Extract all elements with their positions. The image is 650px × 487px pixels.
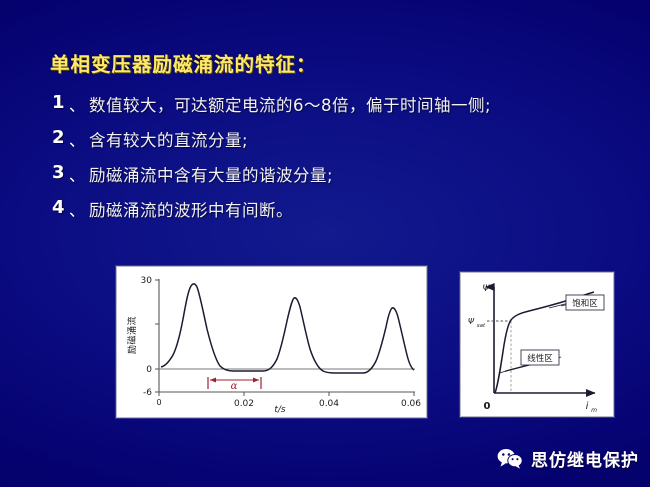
bullet-separator: 、 — [69, 197, 85, 221]
x-axis-label: i — [586, 401, 589, 412]
wechat-icon — [497, 448, 523, 469]
bullet-number: 4 — [52, 197, 68, 218]
y-tick-label-zero: 0 — [146, 365, 152, 375]
x-axis-label: t/s — [274, 405, 286, 415]
psi-sat-label: Ψ — [468, 317, 475, 326]
x-tick-label-2: 0.04 — [319, 399, 339, 409]
bullet-text: 含有较大的直流分量; — [89, 127, 248, 151]
inrush-curve — [161, 284, 414, 373]
waveform-svg: 30 0 -6 励磁涌流 0 0.02 0.04 0.06 t/s — [117, 267, 426, 417]
bullet-separator: 、 — [69, 162, 85, 186]
y-tick-label-max: 30 — [141, 276, 153, 286]
bullet-number: 3 — [52, 162, 68, 183]
linear-region-label: 线性区 — [527, 353, 553, 364]
slide-canvas: 单相变压器励磁涌流的特征： 1 、 数值较大，可达额定电流的6～8倍，偏于时间轴… — [0, 0, 650, 487]
alpha-label: α — [231, 381, 238, 392]
watermark: 思仿继电保护 — [497, 446, 639, 471]
bullet-text: 数值较大，可达额定电流的6～8倍，偏于时间轴一侧; — [89, 92, 491, 116]
alpha-annotation: α — [208, 377, 261, 392]
bullet-separator: 、 — [69, 127, 85, 151]
bullet-separator: 、 — [69, 92, 85, 116]
alpha-arrow-right — [253, 378, 259, 383]
bullet-number: 1 — [52, 92, 68, 113]
saturation-region-label: 饱和区 — [572, 298, 598, 309]
x-tick-label-0: 0 — [156, 398, 161, 407]
bullet-text: 励磁涌流的波形中有间断。 — [89, 197, 293, 221]
list-item: 2 、 含有较大的直流分量; — [52, 127, 612, 151]
list-item: 1 、 数值较大，可达额定电流的6～8倍，偏于时间轴一侧; — [52, 92, 612, 116]
y-axis-label: Ψ — [482, 284, 490, 294]
linear-region-callout: 线性区 — [505, 350, 559, 371]
magnetization-curve-chart: Ψ 0 i m Ψ sat 饱和区 — [460, 272, 614, 417]
list-item: 3 、 励磁涌流中含有大量的谐波分量; — [52, 162, 612, 186]
page-title: 单相变压器励磁涌流的特征： — [50, 48, 317, 77]
x-tick-label-1: 0.02 — [234, 399, 254, 409]
y-axis-label: 励磁涌流 — [126, 316, 138, 354]
bullet-text: 励磁涌流中含有大量的谐波分量; — [89, 162, 333, 186]
origin-label: 0 — [484, 401, 491, 412]
list-item: 4 、 励磁涌流的波形中有间断。 — [52, 197, 612, 221]
inrush-current-waveform-chart: 30 0 -6 励磁涌流 0 0.02 0.04 0.06 t/s — [116, 266, 427, 418]
saturation-region-callout: 饱和区 — [561, 295, 604, 310]
x-axis-label-subscript: m — [591, 407, 597, 414]
y-tick-label-min: -6 — [143, 388, 152, 398]
psi-sat-label-subscript: sat — [477, 323, 486, 329]
watermark-label: 思仿继电保护 — [531, 446, 639, 471]
alpha-arrow-left — [210, 378, 216, 383]
bullet-list: 1 、 数值较大，可达额定电流的6～8倍，偏于时间轴一侧; 2 、 含有较大的直… — [52, 92, 612, 232]
x-tick-label-3: 0.06 — [401, 399, 421, 409]
bullet-number: 2 — [52, 127, 68, 148]
magnetization-svg: Ψ 0 i m Ψ sat 饱和区 — [461, 273, 613, 416]
